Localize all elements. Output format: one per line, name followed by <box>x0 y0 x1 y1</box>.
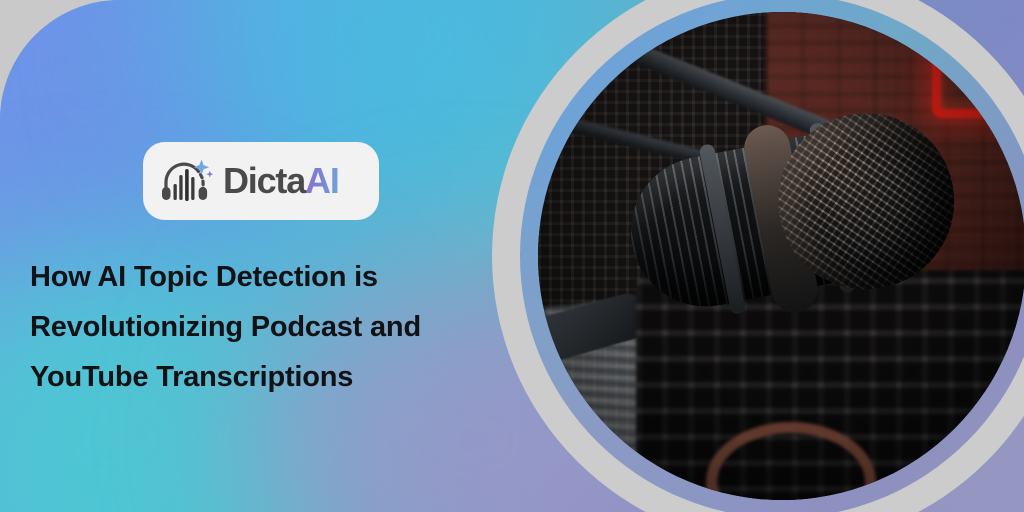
brand-name-accent: AI <box>305 163 339 199</box>
blog-hero-banner: DictaAI How AI Topic Detection is Revolu… <box>0 0 1024 512</box>
circular-photo-frame <box>492 0 1024 512</box>
studio-scene <box>538 12 1024 500</box>
headphones-waveform-sparkle-icon <box>159 155 215 207</box>
brand-name-primary: Dicta <box>223 163 305 199</box>
microphone-photo <box>538 12 1024 500</box>
headline-line-3: YouTube Transcriptions <box>30 352 470 402</box>
page-title: How AI Topic Detection is Revolutionizin… <box>30 252 470 402</box>
brand-logo[interactable]: DictaAI <box>143 142 379 220</box>
headline-line-2: Revolutionizing Podcast and <box>30 302 470 352</box>
photo-vignette <box>538 12 1024 500</box>
brand-wordmark: DictaAI <box>223 163 339 199</box>
headline-line-1: How AI Topic Detection is <box>30 252 470 302</box>
